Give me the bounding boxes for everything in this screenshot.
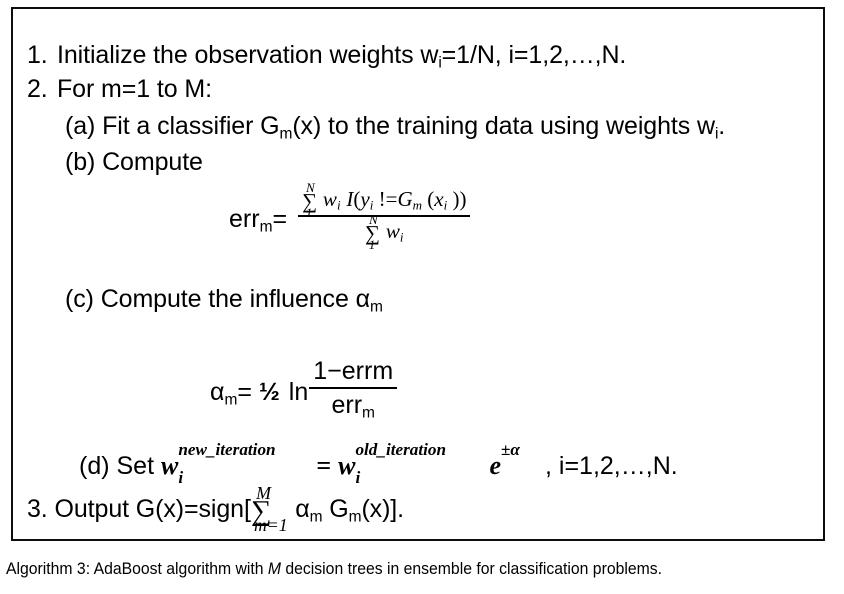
alpha-formula-lhs: αm= ½ (210, 370, 280, 407)
denominator-w-sub: i (400, 230, 404, 245)
natural-log-label: ln (289, 370, 308, 407)
alpha-denominator-sub: m (362, 404, 375, 421)
output-sum-lower: m=1 (254, 517, 288, 535)
substep-a-end: . (718, 112, 725, 140)
substep-c-alpha: α (356, 285, 370, 313)
alpha-symbol: α (210, 378, 224, 406)
alpha-fraction: 1−errm errm (309, 357, 397, 420)
alpha-equals: = (237, 378, 252, 406)
substep-b-label: (b) Compute (65, 148, 203, 176)
numerator-close-paren: )) (447, 187, 466, 211)
numerator-sum: ∑N1 (302, 189, 317, 214)
algorithm-substep-c: (c) Compute the influence αm (65, 287, 383, 312)
step-2-text: For m=1 to M: (57, 75, 212, 103)
output-alpha-sub: m (310, 508, 323, 525)
numerator-G: G (397, 187, 412, 211)
denominator-sum: ∑N1 (365, 221, 380, 246)
err-label: err (229, 205, 260, 233)
step-1-number: 1. (27, 43, 57, 68)
output-sum: ∑Mm=1 (251, 497, 271, 526)
output-suffix: (x)]. (361, 495, 404, 523)
exponential-term: e±α (489, 451, 501, 481)
caption-italic-m: M (268, 560, 281, 578)
substep-d-equals: = (316, 451, 331, 480)
step-3-number: 3. (27, 495, 48, 523)
step-1-text-before: Initialize the observation weights w (57, 41, 438, 69)
alpha-formula: αm= ½ ln 1−errm errm (210, 357, 397, 420)
caption-suffix: decision trees in ensemble for classific… (281, 560, 662, 578)
weight-old-superscript: old_iteration (355, 440, 446, 460)
algorithm-substep-b: (b) Compute (65, 150, 203, 175)
output-sum-upper: M (256, 485, 271, 503)
exponential-base: e (489, 451, 501, 480)
output-G-sub: m (349, 508, 362, 525)
algorithm-box: 1.Initialize the observation weights wi=… (11, 7, 825, 541)
numerator-w-sub: i (337, 198, 341, 213)
weight-old-base: w (338, 451, 355, 480)
weight-old-subscript: i (355, 468, 360, 488)
numerator-sum-upper: N (306, 180, 315, 196)
substep-a-mid: (x) to the training data using weights w (292, 112, 715, 140)
weight-new-subscript: i (178, 468, 183, 488)
output-G: G (329, 495, 348, 523)
err-formula-lhs: errm= (229, 199, 287, 234)
algorithm-step-1: 1.Initialize the observation weights wi=… (27, 43, 626, 68)
one-half: ½ (259, 378, 280, 406)
err-label-sub: m (260, 218, 273, 235)
err-formula: errm= ∑N1 wi I(yi !=Gm (xi )) ∑N1 wi (229, 187, 470, 246)
alpha-subscript: m (224, 391, 237, 408)
algorithm-substep-a: (a) Fit a classifier Gm(x) to the traini… (65, 114, 725, 139)
substep-a-label: (a) Fit a classifier G (65, 112, 280, 140)
figure-caption: Algorithm 3: AdaBoost algorithm with M d… (6, 560, 806, 579)
numerator-x-open: ( (422, 187, 434, 211)
substep-a-sub1: m (280, 125, 293, 142)
alpha-denominator: errm (309, 389, 397, 420)
denominator-w: w (386, 219, 400, 243)
output-alpha: α (295, 495, 309, 523)
substep-d-suffix: , i=1,2,…,N. (545, 452, 678, 480)
err-denominator: ∑N1 wi (298, 217, 470, 246)
denominator-sum-upper: N (369, 212, 378, 228)
caption-prefix: Algorithm 3: AdaBoost algorithm with (6, 560, 268, 578)
weight-old: wold_iterationi (338, 451, 355, 481)
weight-new-superscript: new_iteration (178, 440, 275, 460)
denominator-sum-lower: 1 (369, 237, 376, 253)
err-fraction: ∑N1 wi I(yi !=Gm (xi )) ∑N1 wi (298, 187, 470, 246)
step-1-text-after: =1/N, i=1,2,…,N. (442, 41, 627, 69)
step-3-prefix: Output G(x)=sign[ (55, 495, 251, 523)
algorithm-step-2: 2.For m=1 to M: (27, 77, 212, 102)
substep-d-prefix: (d) Set (79, 452, 161, 480)
not-equal-operator: != (373, 187, 397, 211)
weight-new-base: w (161, 451, 178, 480)
numerator-w: w (323, 187, 337, 211)
algorithm-step-3: 3. Output G(x)=sign[∑Mm=1αm Gm(x)]. (27, 497, 404, 526)
alpha-numerator: 1−errm (309, 357, 397, 389)
numerator-G-sub: m (413, 198, 422, 213)
err-equals: = (272, 205, 287, 233)
exponential-superscript: ±α (501, 440, 520, 460)
err-numerator: ∑N1 wi I(yi !=Gm (xi )) (298, 187, 470, 217)
substep-c-alpha-sub: m (370, 298, 383, 315)
step-2-number: 2. (27, 77, 57, 102)
numerator-y: y (360, 187, 369, 211)
alpha-denominator-text: err (331, 391, 362, 419)
substep-c-label: (c) Compute the influence (65, 285, 356, 313)
numerator-sum-lower: 1 (306, 205, 313, 221)
weight-new: wnew_iterationi (161, 451, 178, 481)
algorithm-substep-d: (d) Set wnew_iterationi= wold_iterationi… (79, 451, 678, 481)
numerator-x: x (434, 187, 443, 211)
